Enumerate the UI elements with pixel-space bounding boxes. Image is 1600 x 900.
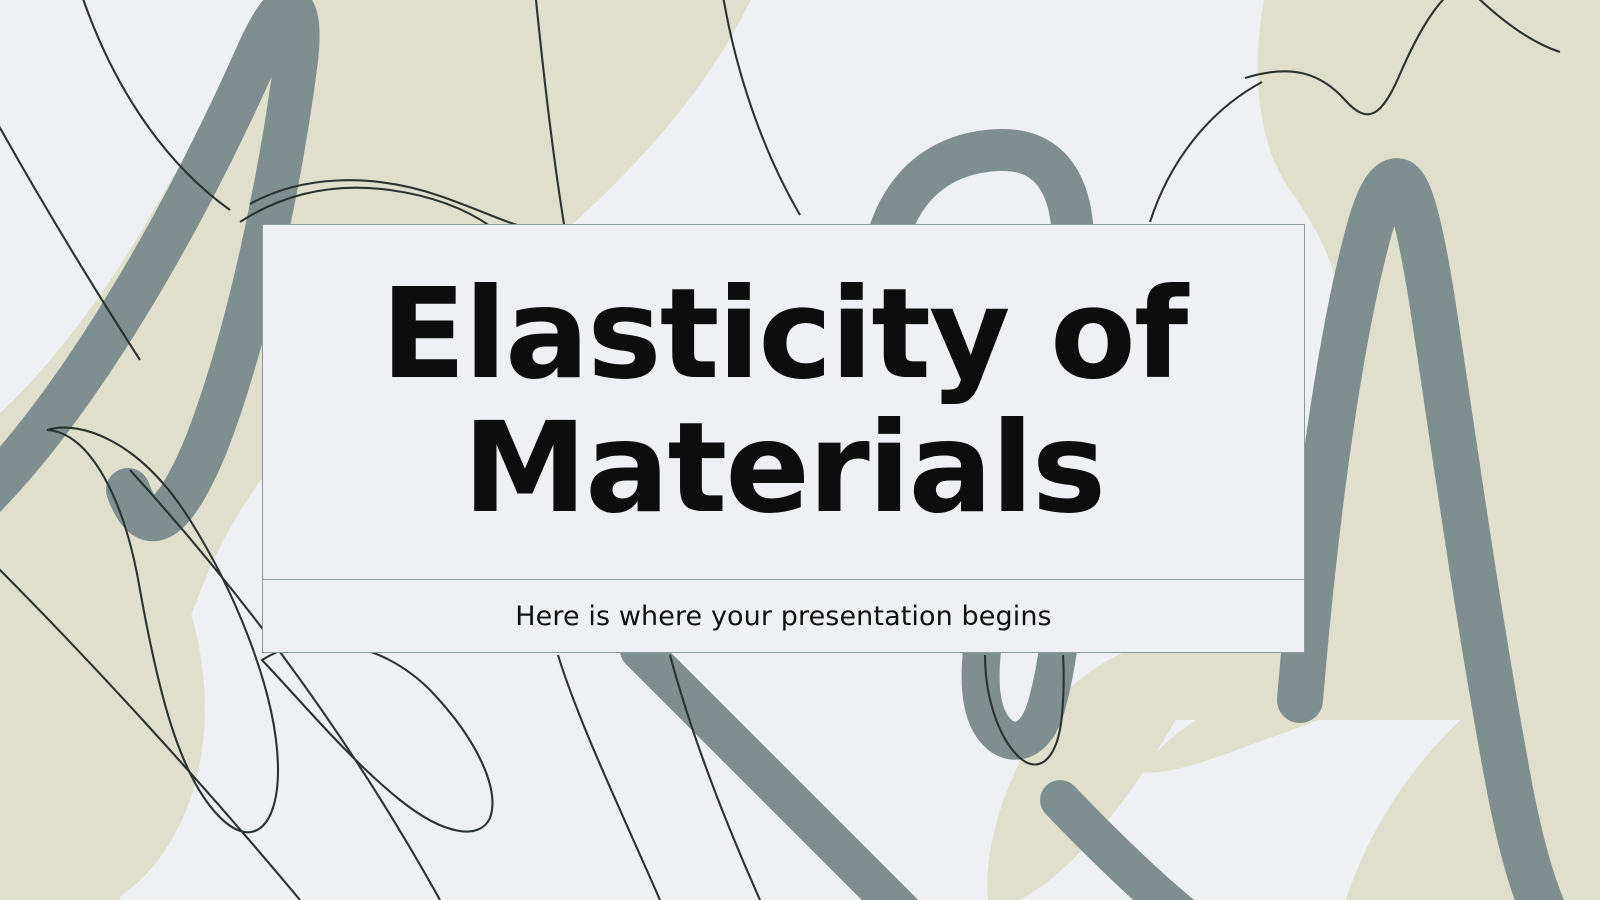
thin-line-lower-loop — [262, 643, 492, 831]
page-title: Elasticity of Materials — [381, 268, 1187, 536]
sage-stroke-u-shape — [981, 650, 1058, 741]
thin-line-under-card-left — [558, 655, 660, 900]
sage-stroke-center-diagonal — [640, 650, 910, 900]
title-card: Elasticity of Materials Here is where yo… — [262, 224, 1305, 653]
presentation-slide: Elasticity of Materials Here is where yo… — [0, 0, 1600, 900]
slide-subtitle: Here is where your presentation begins — [515, 601, 1051, 632]
thin-line-card-arc-right — [1150, 82, 1262, 222]
title-text-block: Elasticity of Materials — [263, 225, 1304, 580]
subtitle-text-block: Here is where your presentation begins — [263, 580, 1304, 652]
